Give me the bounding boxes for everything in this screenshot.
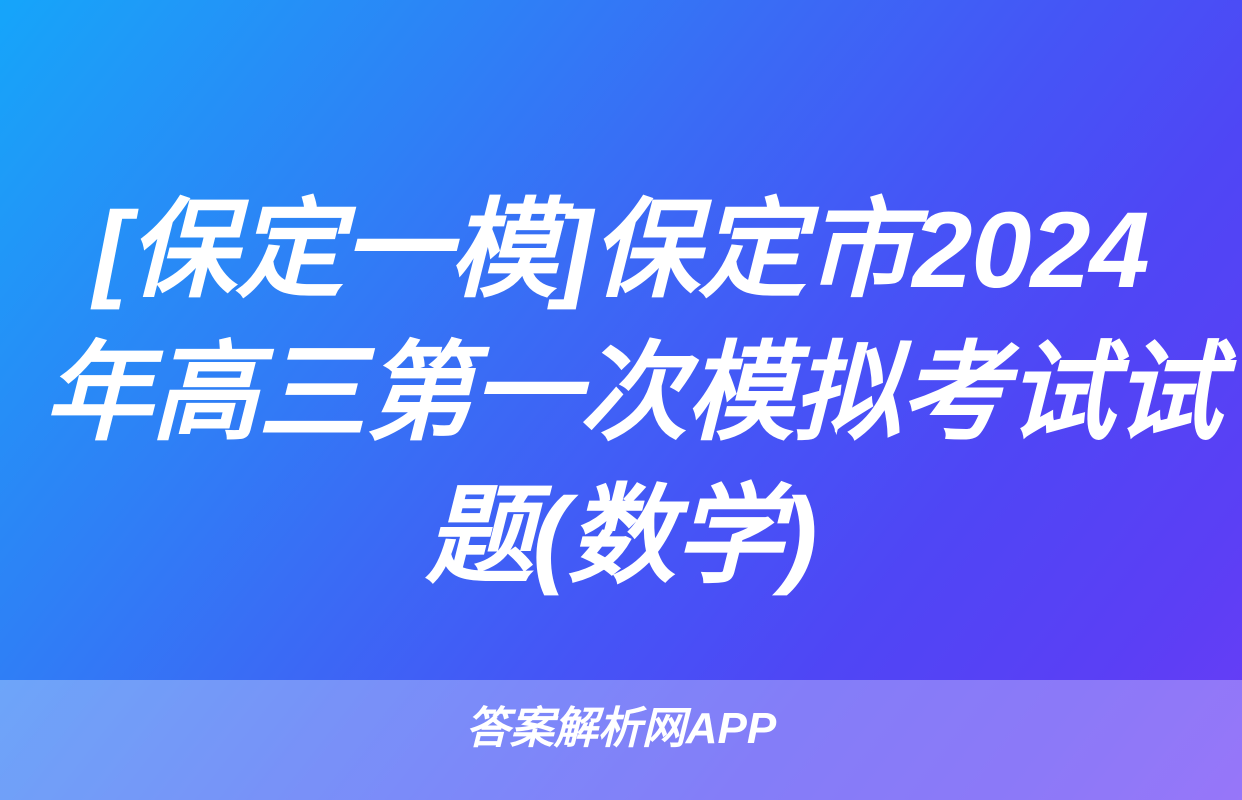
watermark-text: 答案解析网APP bbox=[466, 703, 776, 755]
cover-title-line-2: 年高三第一次模拟考试试 bbox=[44, 321, 1198, 464]
watermark: 答案解析网APP bbox=[0, 703, 1242, 755]
cover-title-line-1: [保定一模]保定市2024 bbox=[44, 178, 1198, 321]
cover-title-line-3: 题(数学) bbox=[44, 464, 1198, 607]
cover-title: [保定一模]保定市2024 年高三第一次模拟考试试 题(数学) bbox=[0, 178, 1242, 607]
exam-cover-image: [保定一模]保定市2024 年高三第一次模拟考试试 题(数学) 答案解析网APP bbox=[0, 0, 1242, 800]
